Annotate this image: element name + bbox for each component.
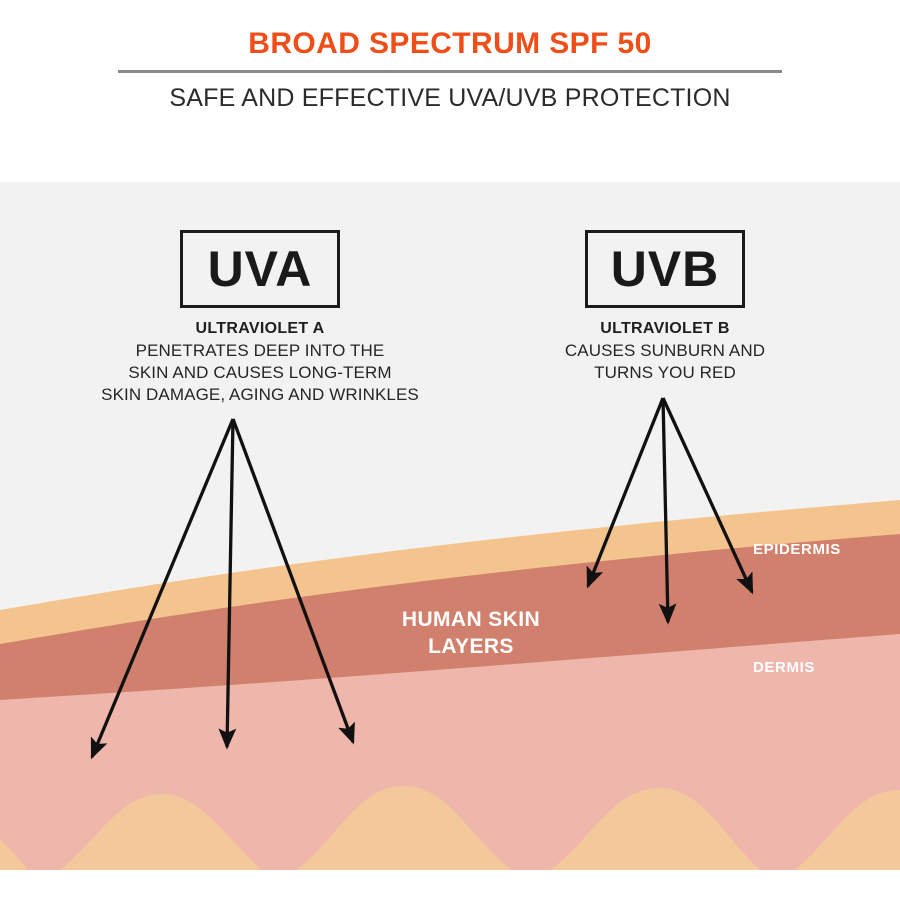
uvb-ray-center [663,398,668,622]
uva-ray-right [233,419,353,742]
uva-ray-left [92,419,233,757]
uvb-ray-right [663,398,752,592]
dermis-label: DERMIS [753,659,815,676]
skin-diagram-panel: UVA ULTRAVIOLET A PENETRATES DEEP INTO T… [0,182,900,870]
uvb-name: ULTRAVIOLET B [500,320,830,338]
title-divider [118,70,782,73]
infographic-root: BROAD SPECTRUM SPF 50 SAFE AND EFFECTIVE… [0,0,900,900]
uvb-box-label: UVB [611,244,720,294]
uvb-description: CAUSES SUNBURN AND TURNS YOU RED [500,340,830,384]
uva-box[interactable]: UVA [180,230,340,308]
epidermis-label: EPIDERMIS [753,541,841,558]
uvb-box[interactable]: UVB [585,230,745,308]
uva-description: PENETRATES DEEP INTO THE SKIN AND CAUSES… [50,340,470,405]
page-subtitle: SAFE AND EFFECTIVE UVA/UVB PROTECTION [0,84,900,113]
uvb-block: UVB ULTRAVIOLET B CAUSES SUNBURN AND TUR… [500,230,830,384]
uva-name: ULTRAVIOLET A [50,320,470,338]
uva-ray-center [227,419,233,747]
page-title: BROAD SPECTRUM SPF 50 [0,27,900,61]
human-skin-layers-caption: HUMAN SKIN LAYERS [371,607,571,661]
uva-block: UVA ULTRAVIOLET A PENETRATES DEEP INTO T… [50,230,470,405]
header: BROAD SPECTRUM SPF 50 SAFE AND EFFECTIVE… [0,0,900,182]
uvb-ray-left [588,398,663,586]
uva-box-label: UVA [208,244,313,294]
